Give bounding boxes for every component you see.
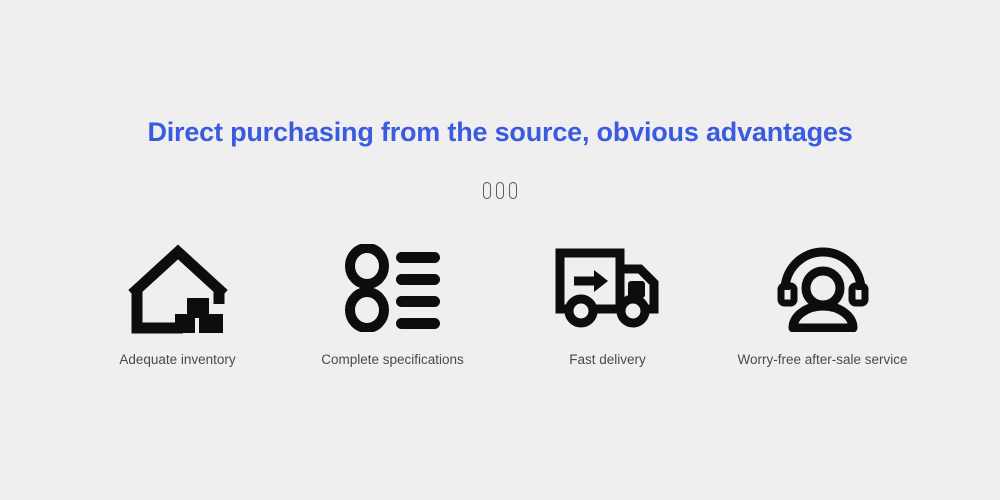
feature-item-inventory: Adequate inventory xyxy=(70,240,285,369)
divider xyxy=(0,182,1000,199)
divider-mark-icon xyxy=(496,182,504,199)
divider-mark-icon xyxy=(483,182,491,199)
headset-support-icon xyxy=(775,240,871,335)
promo-banner: Direct purchasing from the source, obvio… xyxy=(0,0,1000,500)
divider-mark-icon xyxy=(509,182,517,199)
feature-item-specifications: Complete specifications xyxy=(285,240,500,369)
feature-list: Adequate inventory Complete specificatio… xyxy=(0,240,1000,369)
feature-label: Fast delivery xyxy=(569,351,646,369)
feature-label: Adequate inventory xyxy=(119,351,235,369)
feature-item-delivery: Fast delivery xyxy=(500,240,715,369)
delivery-truck-icon xyxy=(554,240,662,335)
feature-label: Worry-free after-sale service xyxy=(737,351,907,369)
warehouse-boxes-icon xyxy=(126,240,230,335)
specification-list-icon xyxy=(343,240,443,335)
feature-label: Complete specifications xyxy=(321,351,464,369)
page-title: Direct purchasing from the source, obvio… xyxy=(0,112,1000,152)
feature-item-after-sale: Worry-free after-sale service xyxy=(715,240,930,369)
